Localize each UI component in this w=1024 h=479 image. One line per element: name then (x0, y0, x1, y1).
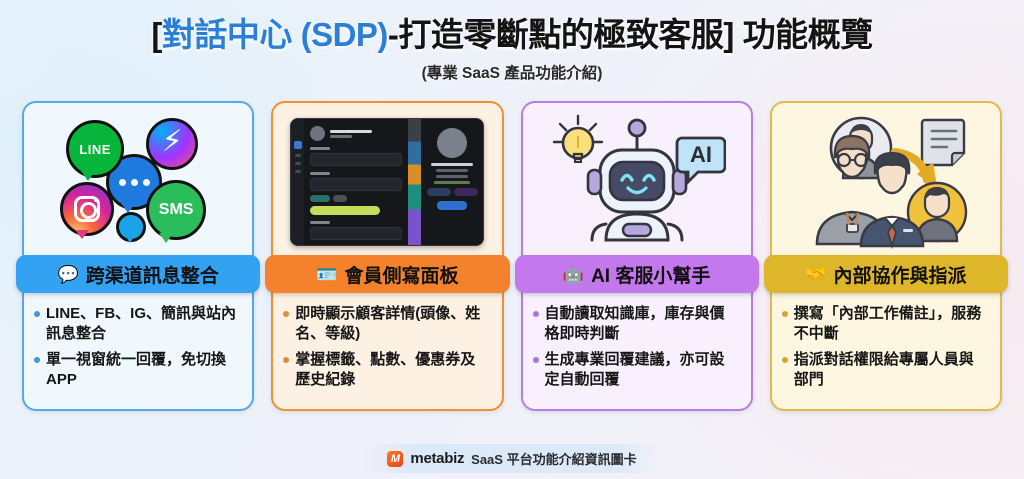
card-bullets-internal-collab: 撰寫「內部工作備註」，服務不中斷 指派對話權限給專屬人員與部門 (772, 293, 1000, 409)
profile-name-placeholder (431, 163, 473, 166)
bullet-text: 單一視窗統一回覆，免切換 APP (46, 350, 240, 389)
team-svg (795, 112, 977, 252)
profile-id-placeholder (436, 169, 468, 172)
feature-card-ai-assistant[interactable]: AI 🤖 AI 客服小幫手 自動讀取知識庫，庫存與價格即時判斷 生成專業回覆建議… (521, 101, 753, 411)
card-title-omnichannel: 跨渠道訊息整合 (86, 261, 219, 288)
field-label-placeholder (310, 221, 330, 224)
card-title-internal-collab: 內部協作與指派 (833, 261, 966, 288)
card-banner-member-profile: 🪪 會員側寫面板 (265, 255, 509, 293)
card-illustration-social-bubbles: LINE ⚡ SMS (24, 103, 252, 255)
robot-icon: 🤖 (563, 266, 584, 283)
bullet-text: 自動讀取知識庫，庫存與價格即時判斷 (545, 304, 739, 343)
sms-channel-icon: SMS (146, 180, 206, 240)
bullet-text: 生成專業回覆建議，亦可設定自動回覆 (545, 350, 739, 389)
dark-crm-panel-screenshot (290, 118, 484, 246)
handshake-icon: 🤝 (805, 266, 826, 283)
app-profile-column (421, 119, 483, 245)
field-label-placeholder (310, 172, 330, 175)
brand-name: metabiz (410, 450, 464, 467)
card-title-member-profile: 會員側寫面板 (344, 261, 458, 288)
app-nav-rail (291, 119, 304, 245)
tag-chips (310, 195, 402, 202)
card-banner-ai-assistant: 🤖 AI 客服小幫手 (515, 255, 759, 293)
sms-label: SMS (159, 201, 194, 219)
card-bullets-member-profile: 即時顯示顧客詳情(頭像、姓名、等級) 掌握標籤、點數、優惠券及歷史紀錄 (273, 293, 501, 409)
speech-bubble-icon: 💬 (58, 266, 79, 283)
feature-card-internal-collab[interactable]: 🤝 內部協作與指派 撰寫「內部工作備註」，服務不中斷 指派對話權限給專屬人員與部… (770, 101, 1002, 411)
avatar (310, 126, 325, 141)
card-illustration-ai-robot: AI (523, 103, 751, 255)
field-label-placeholder (310, 147, 330, 150)
feature-card-omnichannel[interactable]: LINE ⚡ SMS 💬 跨渠道訊息整合 LINE、FB、IG、簡訊與站內訊息整… (22, 101, 254, 411)
profile-email-placeholder (436, 175, 468, 178)
profile-primary-button (437, 201, 467, 210)
card-bullets-ai-assistant: 自動讀取知識庫，庫存與價格即時判斷 生成專業回覆建議，亦可設定自動回覆 (523, 293, 751, 409)
page-title-accent: 對話中心 (SDP) (162, 16, 388, 53)
card-banner-internal-collab: 🤝 內部協作與指派 (764, 255, 1008, 293)
tag-chip (310, 195, 330, 202)
points-field-placeholder (310, 227, 402, 240)
metabiz-logo-icon: M (387, 451, 403, 467)
bullet-text: 即時顯示顧客詳情(頭像、姓名、等級) (295, 304, 489, 343)
list-item: 即時顯示顧客詳情(頭像、姓名、等級) (283, 304, 489, 343)
bullet-dot-icon (34, 357, 40, 363)
list-item: 生成專業回覆建議，亦可設定自動回覆 (533, 350, 739, 389)
card-title-ai-assistant: AI 客服小幫手 (591, 261, 710, 288)
footer-caption: SaaS 平台功能介紹資訊圖卡 (471, 449, 636, 468)
card-banner-omnichannel: 💬 跨渠道訊息整合 (16, 255, 260, 293)
profile-action-buttons (425, 188, 479, 196)
avatar (437, 128, 467, 158)
page-subtitle: (專業 SaaS 產品功能介紹) (0, 61, 1024, 83)
header-block: [對話中心 (SDP)-打造零斷點的極致客服] 功能概覽 (專業 SaaS 產品… (0, 0, 1024, 83)
robot-svg: AI (548, 112, 726, 252)
contact-name-placeholder (330, 130, 372, 138)
list-item: 掌握標籤、點數、優惠券及歷史紀錄 (283, 350, 489, 389)
small-chat-bubble (116, 212, 146, 242)
app-contact-header (310, 126, 402, 141)
social-channel-bubbles: LINE ⚡ SMS (54, 112, 222, 252)
list-item: LINE、FB、IG、簡訊與站內訊息整合 (34, 304, 240, 343)
card-illustration-team (772, 103, 1000, 255)
messenger-bolt-icon: ⚡ (162, 127, 183, 157)
tag-chip (333, 195, 347, 202)
bullet-text: 掌握標籤、點數、優惠券及歷史紀錄 (295, 350, 489, 389)
id-card-icon: 🪪 (316, 266, 337, 283)
team-assignment-illustration (795, 112, 977, 252)
profile-action-button (454, 188, 478, 196)
bullet-text: LINE、FB、IG、簡訊與站內訊息整合 (46, 304, 240, 343)
app-color-strip (408, 119, 421, 245)
bullet-dot-icon (283, 357, 289, 363)
line-label: LINE (79, 142, 111, 157)
bullet-dot-icon (782, 357, 788, 363)
ai-robot-illustration: AI (548, 112, 726, 252)
typing-dots-icon (119, 179, 150, 186)
profile-level-badge (434, 181, 470, 184)
bullet-dot-icon (533, 311, 539, 317)
note-document-icon (922, 120, 964, 165)
list-item: 撰寫「內部工作備註」，服務不中斷 (782, 304, 988, 343)
list-item: 指派對話權限給專屬人員與部門 (782, 350, 988, 389)
page-title: [對話中心 (SDP)-打造零斷點的極致客服] 功能概覽 (0, 17, 1024, 53)
highlight-tag-chip (310, 206, 380, 215)
messenger-channel-icon: ⚡ (146, 118, 198, 170)
list-item: 單一視窗統一回覆，免切換 APP (34, 350, 240, 389)
card-illustration-crm-panel (273, 103, 501, 255)
page-title-rest: -打造零斷點的極致客服] 功能概覽 (388, 16, 873, 53)
list-item: 自動讀取知識庫，庫存與價格即時判斷 (533, 304, 739, 343)
ai-bubble-label: AI (690, 142, 712, 167)
bullet-dot-icon (782, 311, 788, 317)
select-field-placeholder (310, 178, 402, 191)
card-bullets-omnichannel: LINE、FB、IG、簡訊與站內訊息整合 單一視窗統一回覆，免切換 APP (24, 293, 252, 409)
bullet-text: 指派對話權限給專屬人員與部門 (794, 350, 988, 389)
footer-pill: M metabiz SaaS 平台功能介紹資訊圖卡 (361, 444, 662, 473)
bullet-text: 撰寫「內部工作備註」，服務不中斷 (794, 304, 988, 343)
bullet-dot-icon (34, 311, 40, 317)
text-field-placeholder (310, 153, 402, 166)
bullet-dot-icon (283, 311, 289, 317)
page-title-bracket: [ (151, 16, 162, 53)
feature-cards-row: LINE ⚡ SMS 💬 跨渠道訊息整合 LINE、FB、IG、簡訊與站內訊息整… (0, 83, 1024, 411)
footer: M metabiz SaaS 平台功能介紹資訊圖卡 (0, 444, 1024, 473)
instagram-camera-icon (74, 196, 100, 222)
instagram-channel-icon (60, 182, 114, 236)
app-form-column (304, 119, 408, 245)
profile-action-button (427, 188, 451, 196)
bullet-dot-icon (533, 357, 539, 363)
feature-card-member-profile[interactable]: 🪪 會員側寫面板 即時顯示顧客詳情(頭像、姓名、等級) 掌握標籤、點數、優惠券及… (271, 101, 503, 411)
